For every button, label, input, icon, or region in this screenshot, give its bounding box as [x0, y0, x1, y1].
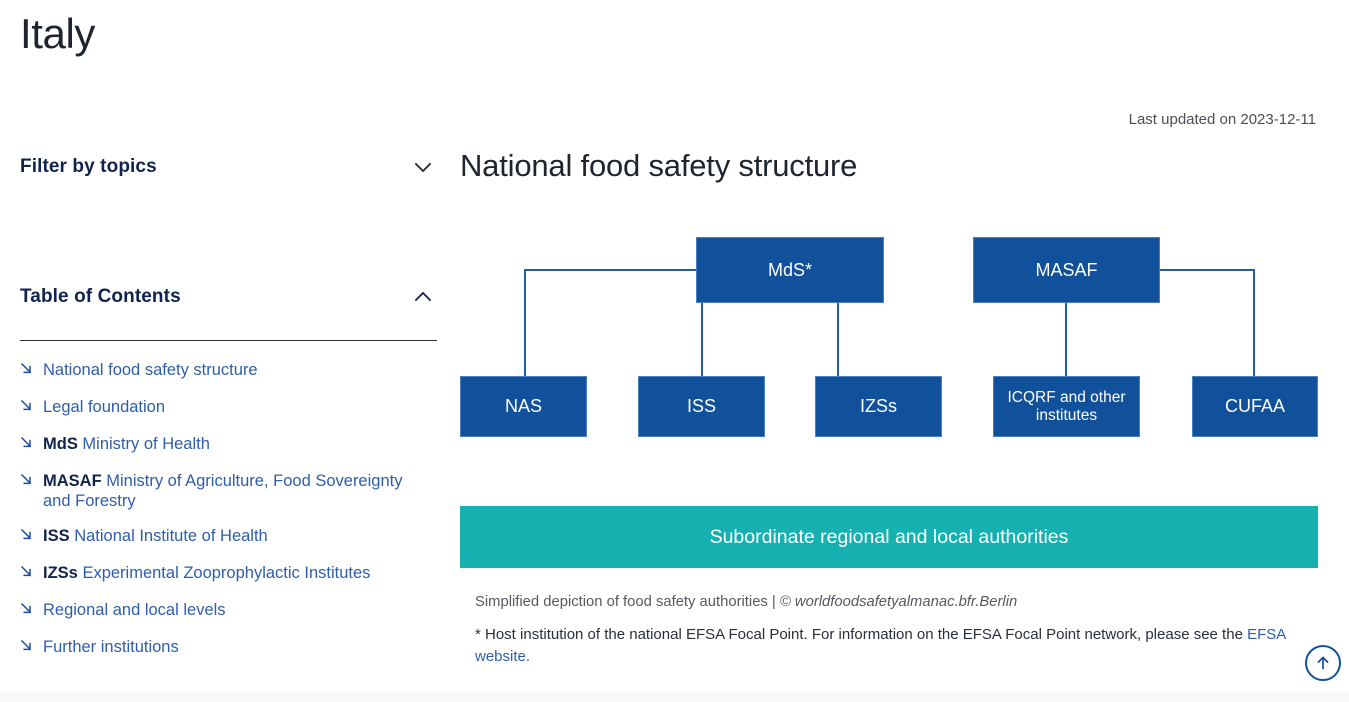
arrow-down-right-icon [20, 399, 34, 419]
arrow-down-right-icon [20, 639, 34, 659]
connector-masaf-cufaa-horizontal [1160, 269, 1255, 271]
last-updated-text: Last updated on 2023-12-11 [1129, 110, 1316, 130]
page-root: Italy Last updated on 2023-12-11 Filter … [0, 0, 1349, 702]
connector-mds-nas-horizontal [524, 269, 697, 271]
arrow-down-right-icon [20, 473, 34, 493]
node-icqrf[interactable]: ICQRF and other institutes [993, 376, 1140, 437]
page-title: Italy [20, 8, 95, 60]
table-of-contents-label: Table of Contents [20, 286, 181, 308]
arrow-down-right-icon [20, 602, 34, 622]
figure-source-copyright: © worldfoodsafetyalmanac.bfr.Berlin [780, 594, 1017, 610]
figure-captions: Simplified depiction of food safety auth… [475, 592, 1305, 668]
arrow-up-icon [1313, 653, 1333, 673]
toc-item-label: Further institutions [43, 638, 179, 658]
node-iss[interactable]: ISS [638, 376, 765, 437]
table-of-contents-accordion[interactable]: Table of Contents National food safety s… [20, 280, 437, 675]
toc-item[interactable]: ISS National Institute of Health [20, 527, 437, 548]
arrow-down-right-icon [20, 436, 34, 456]
node-cufaa[interactable]: CUFAA [1192, 376, 1318, 437]
node-mds-label: MdS* [768, 260, 812, 281]
toc-item-label: Regional and local levels [43, 601, 226, 621]
toc-divider [20, 340, 437, 341]
arrow-down-right-icon [20, 565, 34, 585]
chevron-up-icon[interactable] [412, 286, 434, 308]
toc-item-label: National food safety structure [43, 361, 258, 381]
toc-item-label: ISS National Institute of Health [43, 527, 268, 547]
figure-footnote-text: * Host institution of the national EFSA … [475, 626, 1247, 643]
toc-item-abbr: MdS [43, 435, 78, 453]
section-title: National food safety structure [460, 144, 1320, 188]
toc-item[interactable]: MASAF Ministry of Agriculture, Food Sove… [20, 472, 437, 511]
page-bottom-band [0, 692, 1349, 702]
node-cufaa-label: CUFAA [1225, 396, 1285, 417]
node-mds[interactable]: MdS* [696, 237, 884, 303]
toc-item-abbr: ISS [43, 527, 70, 545]
node-masaf[interactable]: MASAF [973, 237, 1160, 303]
figure-source-caption: Simplified depiction of food safety auth… [475, 592, 1305, 613]
toc-item-label: MASAF Ministry of Agriculture, Food Sove… [43, 472, 423, 511]
node-nas-label: NAS [505, 396, 542, 417]
org-chart-diagram: MdS* MASAF NAS ISS IZSs ICQRF and other … [460, 225, 1320, 450]
toc-item[interactable]: MdS Ministry of Health [20, 435, 437, 456]
toc-item[interactable]: Further institutions [20, 638, 437, 659]
connector-mds-izss [837, 303, 839, 379]
connector-masaf-cufaa-vertical [1253, 269, 1255, 379]
main-content-header: National food safety structure [460, 144, 1320, 188]
filter-by-topics-accordion[interactable]: Filter by topics [20, 150, 437, 184]
filter-by-topics-header[interactable]: Filter by topics [20, 150, 437, 184]
figure-footnote: * Host institution of the national EFSA … [475, 624, 1305, 668]
toc-list: National food safety structureLegal foun… [20, 361, 437, 659]
node-icqrf-label: ICQRF and other institutes [994, 389, 1139, 425]
toc-item-label: IZSs Experimental Zooprophylactic Instit… [43, 564, 370, 584]
toc-item[interactable]: Regional and local levels [20, 601, 437, 622]
node-masaf-label: MASAF [1035, 260, 1097, 281]
filter-by-topics-label: Filter by topics [20, 156, 157, 178]
subordinate-authorities-banner: Subordinate regional and local authoriti… [460, 506, 1318, 568]
toc-item-label: Legal foundation [43, 398, 165, 418]
node-izss[interactable]: IZSs [815, 376, 942, 437]
chevron-down-icon[interactable] [412, 156, 434, 178]
scroll-to-top-button[interactable] [1305, 645, 1341, 681]
toc-item[interactable]: National food safety structure [20, 361, 437, 382]
toc-item-label: MdS Ministry of Health [43, 435, 210, 455]
toc-item[interactable]: Legal foundation [20, 398, 437, 419]
toc-item-abbr: IZSs [43, 564, 78, 582]
arrow-down-right-icon [20, 528, 34, 548]
toc-item-abbr: MASAF [43, 472, 102, 490]
figure-source-prefix: Simplified depiction of food safety auth… [475, 594, 780, 610]
connector-masaf-icqrf [1065, 303, 1067, 379]
connector-mds-nas-vertical [524, 269, 526, 379]
subordinate-authorities-label: Subordinate regional and local authoriti… [710, 526, 1069, 549]
node-izss-label: IZSs [860, 396, 897, 417]
connector-mds-iss [701, 303, 703, 379]
arrow-down-right-icon [20, 362, 34, 382]
node-iss-label: ISS [687, 396, 716, 417]
table-of-contents-header[interactable]: Table of Contents [20, 280, 437, 314]
toc-item[interactable]: IZSs Experimental Zooprophylactic Instit… [20, 564, 437, 585]
node-nas[interactable]: NAS [460, 376, 587, 437]
